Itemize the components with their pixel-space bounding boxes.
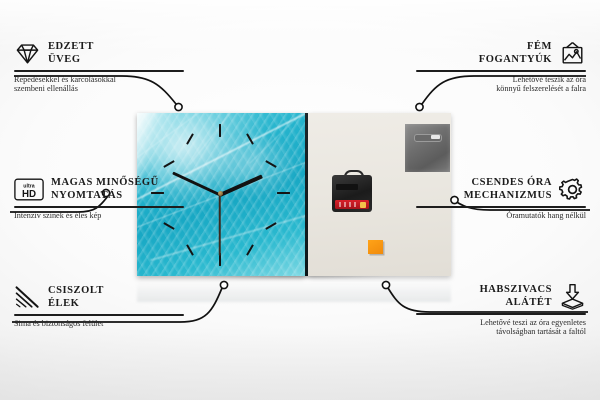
divider [416,70,586,72]
polished-edges-icon [14,284,41,311]
feature-high-quality-print: ultra HD MAGAS MINŐSÉGŰ NYOMTATÁS Intenz… [14,176,184,220]
svg-text:HD: HD [22,189,36,200]
feature-desc: Lehetővé teszi az óra egyenletes távolsá… [416,318,586,337]
feature-desc: Lehetővé teszik az óra könnyű felszerelé… [416,75,586,94]
clock-tick [246,244,254,255]
divider [416,313,586,315]
feature-title: FÉM FOGANTYÚK [479,41,552,65]
gear-icon [559,176,586,203]
product-reflection [137,276,451,302]
feature-title: HABSZIVACS ALÁTÉT [480,284,552,308]
divider [14,70,184,72]
foam-pad [368,240,383,254]
clock-tick [277,192,290,194]
feature-title: EDZETT ÜVEG [48,41,94,65]
feature-desc: Óramutatók hang nélkül [416,211,586,221]
feature-silent-mechanism: CSENDES ÓRA MECHANIZMUS Óramutatók hang … [416,176,586,220]
feature-desc: Intenzív színek és éles kép [14,211,184,221]
divider [14,206,184,208]
hanger-slot-cap [431,135,440,139]
hanger-slot [414,134,442,142]
clock-center-pin [218,191,223,196]
clock-mechanism [332,170,372,212]
product-image [137,113,451,276]
feature-foam-backing: HABSZIVACS ALÁTÉT Lehetővé teszi az óra … [416,283,586,337]
foam-pad-icon [559,283,586,310]
clock-tick [219,124,221,137]
feature-tempered-glass: EDZETT ÜVEG Repedésekkel és karcolásokka… [14,40,184,94]
feature-title: CSENDES ÓRA MECHANIZMUS [464,177,552,201]
mechanism-slit [336,184,358,190]
clock-second-hand [219,194,221,256]
callout-endpoint [416,103,423,110]
feature-title: MAGAS MINŐSÉGŰ NYOMTATÁS [51,177,159,201]
metal-hanger [405,124,450,172]
picture-hanger-icon [559,40,586,67]
diamond-icon [14,40,41,67]
infographic-canvas: EDZETT ÜVEG Repedésekkel és karcolásokka… [0,0,600,400]
callout-endpoint [175,103,182,110]
ultra-hd-icon: ultra HD [14,176,44,203]
clock-tick [163,222,174,230]
feature-desc: Repedésekkel és karcolásokkal szembeni e… [14,75,184,94]
divider [416,206,586,208]
clock-tick [265,222,276,230]
feature-title: CSISZOLT ÉLEK [48,285,104,309]
feature-polished-edges: CSISZOLT ÉLEK Sima és biztonságos felüle… [14,284,184,328]
battery [335,200,369,209]
feature-desc: Sima és biztonságos felület [14,319,184,329]
divider [14,314,184,316]
feature-metal-handles: FÉM FOGANTYÚK Lehetővé teszik az óra kön… [416,40,586,94]
